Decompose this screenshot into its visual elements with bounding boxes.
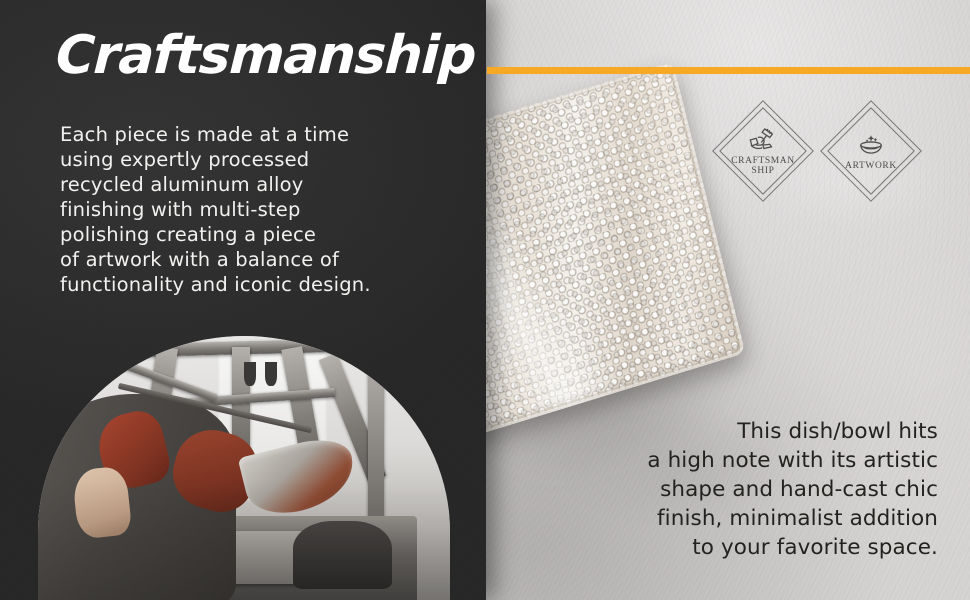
right-copy-line: shape and hand-cast chic (647, 475, 938, 504)
left-description-text: Each piece is made at a time using exper… (60, 122, 420, 297)
left-copy-line: polishing creating a piece (60, 222, 420, 247)
badge-label-line1: Artwork (845, 161, 897, 172)
left-copy-line: functionality and iconic design. (60, 272, 420, 297)
badge-content: Craftsman Ship (716, 104, 810, 198)
hand-holding-hammer-icon (746, 126, 780, 154)
badge-craftsmanship: Craftsman Ship (716, 104, 810, 198)
foundry-photo (38, 336, 450, 600)
accent-divider (487, 67, 970, 74)
badge-content: Artwork (824, 104, 918, 198)
badge-label: Craftsman Ship (731, 156, 794, 177)
badge-group: Craftsman Ship Artwork (716, 104, 918, 198)
left-copy-line: using expertly processed (60, 147, 420, 172)
badge-artwork: Artwork (824, 104, 918, 198)
foundry-photo-inner (38, 336, 450, 600)
left-copy-line: of artwork with a balance of (60, 247, 420, 272)
sparkling-bowl-icon (854, 131, 888, 159)
badge-label-line1: Craftsman (731, 156, 794, 167)
right-copy-line: finish, minimalist addition (647, 504, 938, 533)
right-copy-line: This dish/bowl hits (647, 417, 938, 446)
right-copy-line: to your favorite space. (647, 533, 938, 562)
left-copy-line: Each piece is made at a time (60, 122, 420, 147)
right-description-text: This dish/bowl hits a high note with its… (647, 417, 938, 562)
badge-label: Artwork (845, 161, 897, 172)
craftsmanship-banner: Craftsmanship Each piece is made at a ti… (0, 0, 970, 600)
left-copy-line: recycled aluminum alloy (60, 172, 420, 197)
left-copy-line: finishing with multi-step (60, 197, 420, 222)
right-copy-line: a high note with its artistic (647, 446, 938, 475)
page-title: Craftsmanship (55, 28, 477, 84)
foundry-photo-vignette (38, 336, 450, 600)
badge-label-line2: Ship (731, 166, 794, 177)
